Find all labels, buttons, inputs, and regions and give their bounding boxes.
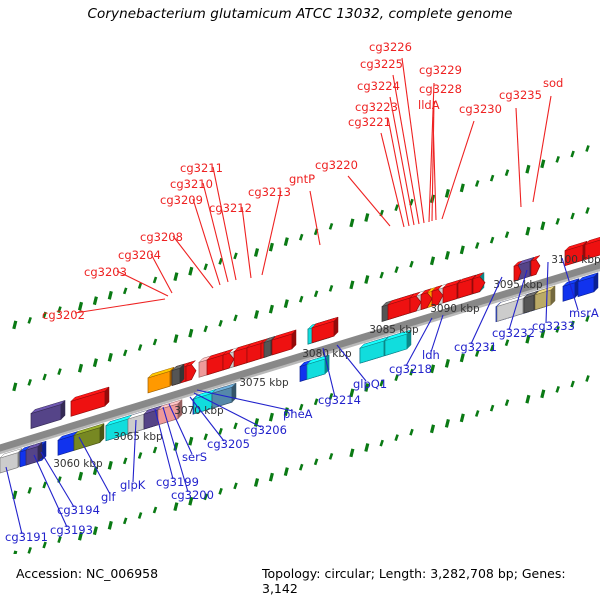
forward-gene-leader-line	[442, 121, 474, 219]
reverse-gene-label[interactable]: cg3205	[207, 437, 250, 451]
forward-gene-label[interactable]: cg3202	[42, 308, 85, 322]
band-dot	[124, 350, 126, 356]
scale-tick-label: 3085 kbp	[369, 324, 419, 336]
band-dot	[270, 305, 272, 313]
reverse-gene-label[interactable]: ldh	[422, 348, 440, 362]
forward-gene-leader-line	[388, 118, 409, 226]
gene-body[interactable]	[172, 368, 180, 385]
forward-gene-label[interactable]: cg3221	[348, 115, 391, 129]
band-dot	[381, 440, 383, 446]
band-dot	[94, 527, 96, 535]
band-dot	[300, 296, 302, 302]
band-dot	[557, 156, 559, 162]
forward-gene-leader-line	[310, 191, 320, 245]
band-dot	[154, 507, 156, 513]
band-dot	[14, 551, 16, 554]
band-dot	[139, 345, 141, 351]
forward-gene-label[interactable]: cg3213	[248, 185, 291, 199]
band-dot	[220, 428, 222, 434]
reverse-gene-label[interactable]: cg3206	[244, 423, 287, 437]
band-dot	[14, 491, 16, 499]
band-dot	[59, 537, 61, 543]
band-dot	[80, 472, 82, 480]
band-dot	[506, 400, 508, 406]
band-dot	[411, 429, 413, 435]
band-dot	[491, 237, 493, 243]
reverse-gene-label[interactable]: cg3199	[156, 475, 199, 489]
forward-gene-group[interactable]: cg3213	[248, 185, 291, 275]
reverse-gene-label[interactable]: glpK	[120, 478, 146, 492]
band-dot	[351, 449, 353, 457]
forward-gene-leader-line	[262, 191, 281, 275]
band-dot	[396, 435, 398, 441]
forward-gene-leader-line	[393, 75, 419, 224]
reverse-gene-label[interactable]: cg3218	[389, 362, 432, 376]
gene-glyph[interactable]	[148, 367, 174, 393]
band-dot	[432, 257, 434, 265]
band-dot	[235, 483, 237, 489]
gene-arrow[interactable]	[531, 260, 540, 277]
forward-gene-label[interactable]: cg3226	[369, 40, 412, 54]
band-dot	[44, 374, 46, 380]
forward-gene-leader-line	[390, 97, 414, 225]
band-dot	[527, 395, 529, 403]
gene-arrow[interactable]	[186, 365, 196, 382]
band-dot	[235, 315, 237, 321]
reverse-gene-label[interactable]: cg3231	[454, 340, 497, 354]
reverse-gene-label[interactable]: cg3214	[318, 393, 361, 407]
band-dot	[270, 243, 272, 251]
reverse-gene-leader-line	[6, 467, 22, 534]
forward-gene-label[interactable]: cg3229	[419, 63, 462, 77]
band-dot	[491, 405, 493, 411]
band-dot	[109, 291, 111, 299]
band-dot	[557, 218, 559, 224]
reverse-gene-label[interactable]: cg3233	[532, 319, 575, 333]
band-dot	[366, 214, 368, 222]
band-dot	[205, 264, 207, 270]
reverse-gene-label[interactable]: pheA	[283, 407, 313, 421]
scale-tick-label: 3100 kbp	[551, 254, 600, 266]
band-dot	[154, 277, 156, 283]
band-dot	[587, 376, 589, 382]
reverse-gene-label[interactable]: serS	[182, 450, 207, 464]
reverse-gene-label[interactable]: glf	[101, 490, 116, 504]
footer-bar: Accession: NC_006958 Topology: circular;…	[0, 566, 600, 592]
band-dot	[139, 283, 141, 289]
band-dot	[285, 238, 287, 246]
forward-gene-label[interactable]: sod	[543, 76, 563, 90]
band-dot	[315, 291, 317, 297]
reverse-gene-group[interactable]: glf	[79, 437, 116, 504]
genome-map-svg[interactable]: 3060 kbp3065 kbp3070 kbp3075 kbp3080 kbp…	[0, 34, 600, 554]
band-dot	[154, 339, 156, 345]
band-dot	[366, 276, 368, 284]
forward-gene-leader-line	[516, 108, 521, 207]
band-dot	[220, 258, 222, 264]
band-dot	[572, 213, 574, 219]
band-dot	[139, 513, 141, 519]
band-dot	[506, 340, 508, 346]
gene-body[interactable]	[264, 340, 271, 357]
band-dot	[446, 251, 448, 259]
forward-gene-label[interactable]: cg3220	[315, 158, 358, 172]
gene-glyph[interactable]	[272, 330, 296, 355]
band-dot	[411, 261, 413, 267]
band-dot	[44, 482, 46, 488]
accession-text: Accession: NC_006958	[16, 566, 158, 581]
band-dot	[109, 461, 111, 469]
band-dot	[527, 227, 529, 235]
page-title: Corynebacterium glutamicum ATCC 13032, c…	[0, 6, 600, 22]
band-dot	[235, 423, 237, 429]
band-dot	[461, 414, 463, 422]
band-dot	[59, 369, 61, 375]
forward-gene-label[interactable]: cg3204	[118, 248, 161, 262]
forward-gene-label[interactable]: cg3212	[209, 201, 252, 215]
scale-tick-label: 3070 kbp	[174, 405, 224, 417]
gene-glyph[interactable]	[31, 400, 65, 428]
band-dot	[29, 487, 31, 493]
band-dot	[94, 297, 96, 305]
band-dot	[235, 253, 237, 259]
gene-glyph[interactable]	[71, 387, 109, 416]
genome-map-viewer: Corynebacterium glutamicum ATCC 13032, c…	[0, 0, 600, 600]
topology-text: Topology: circular; Length: 3,282,708 bp…	[262, 566, 600, 596]
forward-gene-label[interactable]: cg3209	[160, 193, 203, 207]
band-dot	[491, 175, 493, 181]
band-dot	[256, 479, 258, 487]
forward-gene-group[interactable]: cg3230	[442, 102, 502, 219]
scale-tick-label: 3090 kbp	[430, 303, 480, 315]
band-dot	[315, 459, 317, 465]
forward-gene-label[interactable]: cg3230	[459, 102, 502, 116]
band-dot	[14, 321, 16, 329]
reverse-gene-label[interactable]: glpQ1	[353, 377, 387, 391]
band-dot	[446, 189, 448, 197]
genome-map-canvas[interactable]: 3060 kbp3065 kbp3070 kbp3075 kbp3080 kbp…	[0, 34, 600, 554]
forward-gene-group[interactable]: cg3212	[209, 201, 252, 278]
forward-gene-label[interactable]: cg3228	[419, 82, 462, 96]
band-dot	[80, 364, 82, 372]
band-dot	[109, 353, 111, 361]
band-dot	[175, 273, 177, 281]
band-dot	[285, 300, 287, 308]
forward-gene-label[interactable]: gntP	[289, 172, 315, 186]
band-dot	[542, 222, 544, 230]
forward-gene-leader-line	[75, 299, 165, 313]
band-dot	[557, 386, 559, 392]
band-dot	[396, 267, 398, 273]
reverse-gene-label[interactable]: cg3191	[5, 530, 48, 544]
band-dot	[330, 453, 332, 459]
forward-gene-label[interactable]: lldA	[418, 98, 440, 112]
forward-gene-label[interactable]: cg3235	[499, 88, 542, 102]
band-dot	[124, 458, 126, 464]
reverse-gene-label[interactable]: cg3193	[50, 523, 93, 537]
forward-gene-label[interactable]: cg3224	[357, 79, 400, 93]
reverse-gene-label[interactable]: cg3200	[171, 488, 214, 502]
reverse-gene-group[interactable]: cg3191	[5, 467, 48, 544]
band-dot	[542, 160, 544, 168]
band-dot	[175, 503, 177, 511]
band-dot	[190, 267, 192, 275]
band-dot	[14, 383, 16, 391]
band-dot	[315, 399, 317, 405]
band-dot	[29, 379, 31, 385]
scale-tick-label: 3075 kbp	[239, 377, 289, 389]
band-dot	[139, 453, 141, 459]
forward-gene-leader-line	[433, 117, 436, 220]
band-dot	[94, 359, 96, 367]
band-dot	[256, 311, 258, 319]
band-dot	[205, 326, 207, 332]
band-dot	[220, 488, 222, 494]
band-dot	[381, 272, 383, 278]
band-dot	[270, 413, 272, 421]
band-dot	[461, 246, 463, 254]
reverse-gene-label[interactable]: msrA	[569, 306, 599, 320]
band-dot	[351, 281, 353, 289]
band-dot	[476, 243, 478, 249]
gene-glyph[interactable]	[312, 317, 338, 343]
band-dot	[446, 419, 448, 427]
band-dot	[330, 223, 332, 229]
forward-gene-label[interactable]: cg3203	[84, 265, 127, 279]
band-dot	[506, 232, 508, 238]
band-dot	[124, 518, 126, 524]
gene-glyph[interactable]	[563, 279, 579, 302]
forward-gene-label[interactable]: cg3211	[180, 161, 223, 175]
band-dot	[256, 249, 258, 257]
forward-gene-leader-line	[213, 167, 236, 280]
band-dot	[432, 425, 434, 433]
band-dot	[396, 205, 398, 211]
band-dot	[154, 447, 156, 453]
forward-gene-label[interactable]: cg3208	[140, 230, 183, 244]
band-dot	[270, 473, 272, 481]
band-dot	[300, 234, 302, 240]
band-dot	[285, 468, 287, 476]
band-dot	[29, 547, 31, 553]
gene-glyph[interactable]	[26, 442, 42, 465]
band-dot	[190, 437, 192, 445]
forward-gene-group[interactable]: cg3202	[42, 299, 165, 322]
band-dot	[587, 146, 589, 152]
reverse-gene-label[interactable]: cg3232	[492, 326, 535, 340]
band-dot	[175, 335, 177, 343]
forward-gene-group[interactable]: cg3220	[315, 158, 390, 226]
band-dot	[542, 390, 544, 398]
band-dot	[446, 359, 448, 367]
band-dot	[506, 170, 508, 176]
band-dot	[572, 381, 574, 387]
band-dot	[411, 199, 413, 205]
forward-gene-leader-line	[242, 207, 251, 278]
band-dot	[476, 411, 478, 417]
band-dot	[220, 320, 222, 326]
band-dot	[190, 329, 192, 337]
band-dot	[124, 288, 126, 294]
forward-gene-label[interactable]: cg3225	[360, 57, 403, 71]
reverse-gene-label[interactable]: cg3194	[57, 503, 100, 517]
band-dot	[366, 444, 368, 452]
band-dot	[29, 317, 31, 323]
band-dot	[351, 219, 353, 227]
forward-gene-leader-line	[533, 96, 551, 202]
forward-gene-leader-line	[348, 176, 390, 226]
scale-tick-label: 3065 kbp	[113, 431, 163, 443]
band-dot	[572, 151, 574, 157]
band-dot	[587, 208, 589, 214]
band-dot	[109, 521, 111, 529]
band-dot	[527, 165, 529, 173]
band-dot	[476, 181, 478, 187]
forward-gene-label[interactable]: cg3210	[170, 177, 213, 191]
band-dot	[330, 285, 332, 291]
band-dot	[300, 464, 302, 470]
band-dot	[461, 354, 463, 362]
band-dot	[461, 184, 463, 192]
